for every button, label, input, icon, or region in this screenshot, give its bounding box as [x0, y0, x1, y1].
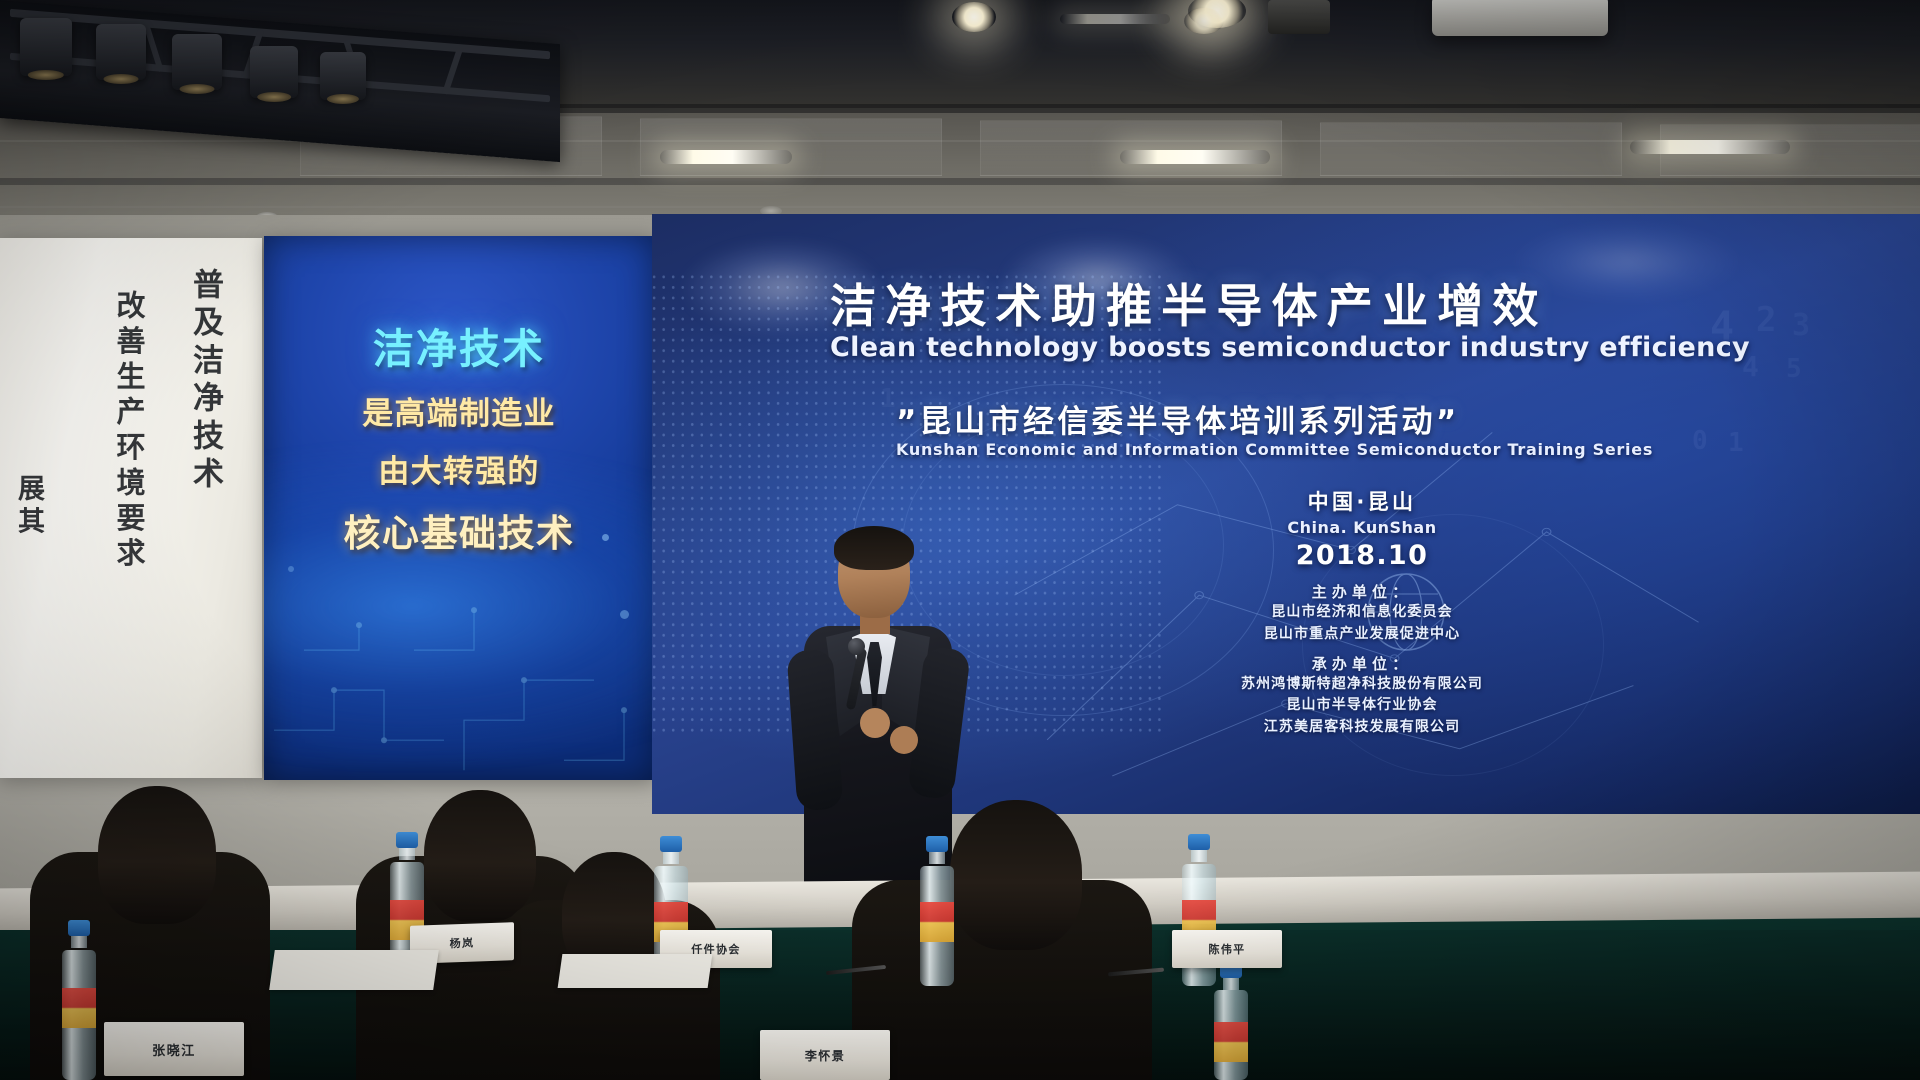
bottle-cap [68, 920, 90, 936]
ceiling-lamp-strip [1630, 140, 1790, 154]
banner-location-en: China. KunShan [1152, 518, 1572, 537]
bottle-cap [396, 832, 418, 848]
host-label: 主办单位： [1122, 581, 1602, 602]
banner-number-watermark: 1 [880, 384, 896, 414]
banner-location-cn: 中国·昆山 [1152, 486, 1572, 516]
ceiling-lamp-strip [660, 150, 792, 164]
ceiling-panel [980, 120, 1282, 176]
name-placard: 张晓江 [104, 1022, 244, 1076]
banner-date: 2018.10 [1152, 540, 1572, 571]
bottle-cap [660, 836, 682, 852]
slide-line-4: 核心基础技术 [264, 508, 654, 561]
microphone-icon [848, 638, 865, 655]
bottle-label [920, 902, 954, 942]
par-can-light [172, 34, 222, 90]
audience-head [98, 786, 216, 924]
screen-dot [620, 610, 629, 619]
banner-series-cn: ”昆山市经信委半导体培训系列活动” [896, 396, 1920, 441]
banner-title-cn: 洁净技术助推半导体产业增效 [830, 270, 1920, 336]
ceiling-lamp [1184, 8, 1224, 34]
par-can-light [320, 52, 366, 100]
bottle-neck [71, 934, 87, 948]
calligraphy-column-2: 改善生产环境要求 [108, 290, 150, 710]
ceiling-grid-line [0, 206, 1920, 208]
par-can-light [20, 18, 72, 76]
ceiling-panel [1320, 122, 1622, 176]
bottle-neck [1191, 848, 1207, 862]
speaker-hand-right [890, 726, 918, 754]
banner-series-en: Kunshan Economic and Information Committ… [896, 440, 1920, 459]
banner-location-block: 中国·昆山 China. KunShan 2018.10 [1152, 486, 1572, 571]
organizer-item: 江苏美居客科技发展有限公司 [1122, 717, 1602, 739]
slide-headline: 洁净技术 [264, 320, 654, 378]
ceiling-lamp-strip [1120, 150, 1270, 164]
ceiling [0, 0, 1920, 232]
audience-head [424, 790, 536, 922]
placard-name: 李怀景 [805, 1047, 845, 1064]
placard-name: 陈伟平 [1209, 941, 1246, 957]
bottle-neck [1223, 976, 1239, 990]
name-placard: 李怀景 [760, 1030, 890, 1080]
name-placard: 陈伟平 [1172, 930, 1282, 968]
ceiling-lamp-strip [1060, 14, 1170, 24]
par-can-light [250, 46, 298, 98]
host-item: 昆山市重点产业发展促进中心 [1122, 624, 1602, 646]
placard-name: 杨岚 [450, 935, 475, 952]
note-paper [558, 954, 713, 988]
ceiling-panel [640, 118, 942, 176]
slide-line-3: 由大转强的 [264, 450, 654, 494]
calligraphy-panel: 普及洁净技术 改善生产环境要求 展其 [0, 238, 262, 778]
placard-name: 张晓江 [152, 1040, 196, 1059]
note-paper [269, 950, 439, 990]
projection-screen: 洁净技术 是高端制造业 由大转强的 核心基础技术 [264, 236, 654, 780]
bottle-neck [399, 846, 415, 860]
organizer-label: 承办单位： [1122, 653, 1602, 674]
banner-organizer-block: 主办单位： 昆山市经济和信息化委员会 昆山市重点产业发展促进中心 承办单位： 苏… [1122, 574, 1602, 739]
slide-text-block: 洁净技术 是高端制造业 由大转强的 核心基础技术 [264, 320, 654, 561]
screen-dot [288, 566, 294, 572]
par-can-light [96, 24, 146, 80]
calligraphy-column-3: 展其 [9, 474, 48, 624]
slide-line-2: 是高端制造业 [264, 392, 654, 436]
ceiling-lamp [952, 2, 996, 32]
bottle-cap [1188, 834, 1210, 850]
banner-title-en: Clean technology boosts semiconductor in… [830, 332, 1920, 363]
bottle-cap [926, 836, 948, 852]
organizer-item: 昆山市半导体行业协会 [1122, 695, 1602, 717]
ceiling-speaker [1268, 0, 1330, 34]
speaker-hand-left [860, 708, 890, 738]
speaker-hair [834, 526, 914, 570]
organizer-item: 苏州鸿博斯特超净科技股份有限公司 [1122, 674, 1602, 696]
circuit-pattern-icon [264, 530, 654, 780]
bottle-neck [663, 850, 679, 864]
ceiling-projector [1432, 0, 1608, 36]
bottle-label [62, 988, 96, 1028]
ceiling-beam [0, 178, 1920, 185]
calligraphy-column-1: 普及洁净技术 [183, 268, 228, 568]
conference-photo: 普及洁净技术 改善生产环境要求 展其 洁净技术 是高端制造业 [0, 0, 1920, 1080]
bottle-neck [929, 850, 945, 864]
host-item: 昆山市经济和信息化委员会 [1122, 602, 1602, 624]
audience-head [950, 800, 1082, 950]
bottle-label [1214, 1022, 1248, 1062]
